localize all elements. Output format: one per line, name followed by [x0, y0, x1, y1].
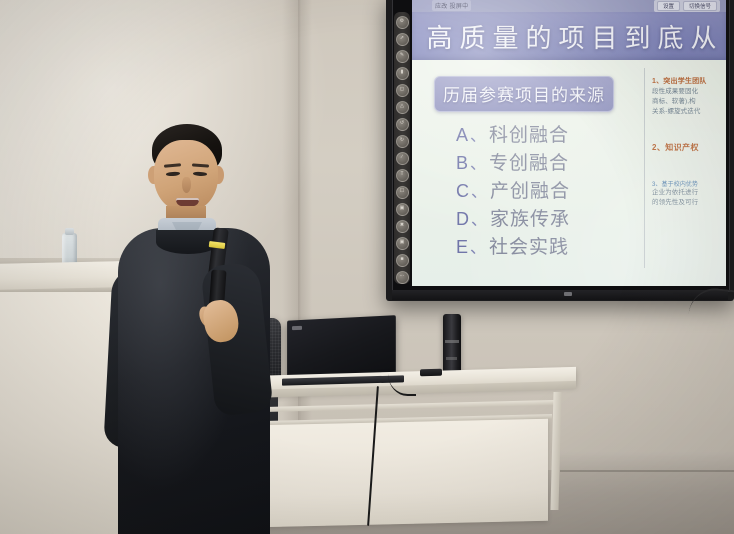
list-item: E 、 社会实践: [456, 232, 570, 259]
option-text: 家族传承: [490, 204, 570, 231]
presenter-nose: [182, 177, 191, 193]
text-icon[interactable]: T: [396, 169, 409, 182]
right-item3-line: 3、基于校内优势: [652, 179, 726, 188]
clear-icon[interactable]: ✖: [396, 220, 409, 233]
more-icon[interactable]: ⋯: [396, 271, 409, 284]
desk-modesty-panel: [258, 419, 548, 528]
lecture-room-photo: ⚙ ➚ ✎ ▮ ◻ △ ↺ ↻ ∕ T ☐ ▣ ✖ ▣ ■ ⋯ 应改 投屏中 设…: [0, 0, 734, 534]
usb-presenter-dongle[interactable]: [420, 369, 442, 377]
right-item1-heading: 1、突出学生团队: [652, 76, 726, 86]
bottle-label: [445, 340, 459, 343]
bottle-label-secondary: [446, 357, 457, 360]
option-key: A: [456, 125, 469, 146]
save-icon[interactable]: ▣: [396, 237, 409, 250]
eraser-icon[interactable]: ◻: [396, 84, 409, 97]
undo-icon[interactable]: ↺: [396, 118, 409, 131]
option-separator: 、: [470, 234, 487, 258]
list-item: C 、 产创融合: [456, 176, 570, 203]
presenter: [96, 118, 296, 534]
option-key: B: [456, 153, 469, 174]
options-list: A 、 科创融合 B 、 专创融合 C 、 产创融合: [456, 120, 570, 259]
ir-sensor-icon: [564, 292, 572, 296]
pen-icon[interactable]: ✎: [396, 50, 409, 63]
smart-board-chin: [392, 290, 728, 300]
option-key: C: [456, 181, 470, 202]
option-separator: 、: [471, 206, 488, 230]
annotation-toolbar[interactable]: ⚙ ➚ ✎ ▮ ◻ △ ↺ ↻ ∕ T ☐ ▣ ✖ ▣ ■ ⋯: [394, 12, 410, 284]
baseboard: [556, 452, 734, 472]
list-item: A 、 科创融合: [456, 120, 570, 147]
image-icon[interactable]: ▣: [396, 203, 409, 216]
screenshot-icon[interactable]: ■: [396, 254, 409, 267]
sources-header-box: 历届参赛项目的来源: [434, 76, 614, 112]
option-separator: 、: [471, 178, 488, 202]
option-text: 专创融合: [489, 148, 569, 175]
redo-icon[interactable]: ↻: [396, 135, 409, 148]
line-icon[interactable]: ∕: [396, 152, 409, 165]
cursor-icon[interactable]: ➚: [396, 33, 409, 46]
select-icon[interactable]: ☐: [396, 186, 409, 199]
shapes-icon[interactable]: △: [396, 101, 409, 114]
right-item3-line: 的领先性及可行: [652, 198, 726, 208]
settings-icon[interactable]: ⚙: [396, 16, 409, 29]
slide-title-band: 高质量的项目到底从: [412, 12, 726, 60]
slide-right-column: 1、突出学生团队 段性成果要固化 商标、软著),构 关系-螺旋式迭代 2、知识产…: [652, 76, 726, 276]
smartboard-buttons[interactable]: 设置 切换信号: [654, 0, 720, 12]
column-divider: [644, 68, 645, 268]
presenter-mouth: [176, 198, 199, 206]
smart-board[interactable]: ⚙ ➚ ✎ ▮ ◻ △ ↺ ↻ ∕ T ☐ ▣ ✖ ▣ ■ ⋯ 应改 投屏中 设…: [386, 0, 734, 301]
option-text: 科创融合: [489, 120, 569, 147]
option-separator: 、: [470, 122, 487, 146]
option-key: E: [456, 237, 469, 258]
right-item2-heading: 2、知识产权: [652, 142, 726, 153]
option-text: 产创融合: [490, 176, 570, 203]
slide-body: 历届参赛项目的来源 A 、 科创融合 B 、 专创融合: [412, 60, 726, 286]
right-item1-line: 关系-螺旋式迭代: [652, 107, 726, 117]
option-separator: 、: [470, 150, 487, 174]
slide-left-column: 历届参赛项目的来源 A 、 科创融合 B 、 专创融合: [420, 76, 638, 276]
right-item1-line: 商标、软著),构: [652, 97, 726, 107]
right-item1-line: 段性成果要固化: [652, 87, 726, 97]
right-item3-line: 企业为依托进行: [652, 188, 726, 198]
highlighter-icon[interactable]: ▮: [396, 67, 409, 80]
floor-tile-line: [560, 470, 734, 472]
laptop[interactable]: [287, 315, 396, 381]
option-text: 社会实践: [489, 232, 569, 259]
projected-slide: 应改 投屏中 设置 切换信号 高质量的项目到底从 历届参赛项目的来源 A: [412, 0, 726, 286]
switch-source-button[interactable]: 切换信号: [683, 1, 717, 11]
slide-title: 高质量的项目到底从: [426, 18, 723, 55]
list-item: B 、 专创融合: [456, 148, 570, 175]
list-item: D 、 家族传承: [456, 204, 570, 231]
bottle-cap: [65, 228, 74, 235]
settings-button[interactable]: 设置: [657, 1, 680, 11]
option-key: D: [456, 209, 470, 230]
sources-header-text: 历届参赛项目的来源: [443, 86, 605, 105]
casting-status-text: 应改 投屏中: [432, 0, 471, 11]
